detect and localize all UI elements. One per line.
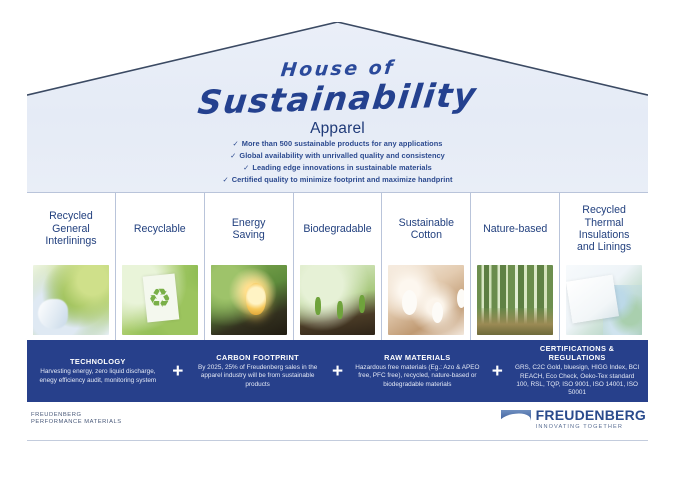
- product-column-list: RecycledGeneralInterlinings Recyclable E…: [27, 193, 648, 341]
- product-column-biodegradable[interactable]: Biodegradable: [294, 193, 383, 341]
- footer-company-line-2: PERFORMANCE MATERIALS: [31, 419, 122, 426]
- plus-icon: +: [169, 362, 187, 381]
- product-column-sustainable-cotton[interactable]: SustainableCotton: [382, 193, 471, 341]
- pillar-technology[interactable]: TECHNOLOGY Harvesting energy, zero liqui…: [27, 357, 169, 385]
- column-title: Nature-based: [471, 193, 559, 265]
- logo-tagline: INNOVATING TOGETHER: [536, 424, 646, 430]
- footer: FREUDENBERG PERFORMANCE MATERIALS FREUDE…: [27, 406, 648, 446]
- pillar-title: CARBON FOOTPRINT: [195, 353, 321, 362]
- foundation-band: TECHNOLOGY Harvesting energy, zero liqui…: [27, 340, 648, 402]
- footer-company-line-1: FREUDENBERG: [31, 412, 122, 419]
- pillar-certifications-and-regulations[interactable]: CERTIFICATIONS & REGULATIONS GRS, C2C Go…: [506, 344, 648, 398]
- column-title: RecycledGeneralInterlinings: [27, 193, 115, 265]
- plus-icon: +: [329, 362, 347, 381]
- column-title: Biodegradable: [294, 193, 382, 265]
- house-title: House of Sustainability Apparel: [27, 58, 648, 138]
- column-photo-light-bulb: [211, 265, 287, 335]
- pillar-raw-materials[interactable]: RAW MATERIALS Hazardous free materials (…: [347, 353, 489, 389]
- pillar-text: Harvesting energy, zero liquid discharge…: [35, 368, 161, 385]
- product-column-recycled-general-interlinings[interactable]: RecycledGeneralInterlinings: [27, 193, 116, 341]
- column-photo-plastic-bottle-and-leaves: [33, 265, 109, 335]
- freudenberg-logo: FREUDENBERG INNOVATING TOGETHER: [501, 408, 646, 430]
- column-title: SustainableCotton: [382, 193, 470, 265]
- footer-company: FREUDENBERG PERFORMANCE MATERIALS: [31, 412, 122, 427]
- product-column-recycled-thermal-insulations-and-linings[interactable]: RecycledThermalInsulationsand Linings: [560, 193, 648, 341]
- pillar-title: RAW MATERIALS: [355, 353, 481, 362]
- check-icon: ✓: [233, 139, 239, 148]
- bullet-item: ✓Leading edge innovations in sustainable…: [27, 162, 648, 174]
- roof-bullet-list: ✓More than 500 sustainable products for …: [27, 138, 648, 186]
- logo-name: FREUDENBERG: [536, 408, 646, 423]
- product-column-nature-based[interactable]: Nature-based: [471, 193, 560, 341]
- pillar-text: GRS, C2C Gold, bluesign, HIGG Index, BCI…: [514, 364, 640, 398]
- pillar-carbon-footprint[interactable]: CARBON FOOTPRINT By 2025, 25% of Freuden…: [187, 353, 329, 389]
- column-title: RecycledThermalInsulationsand Linings: [560, 193, 648, 265]
- column-photo-insulation-and-flakes: [566, 265, 642, 335]
- check-icon: ✓: [243, 163, 249, 172]
- house-roof: House of Sustainability Apparel ✓More th…: [27, 22, 648, 192]
- column-photo-recycling-symbol: [122, 265, 198, 335]
- bullet-label: Certified quality to minimize footprint …: [232, 175, 453, 184]
- pillar-text: Hazardous free materials (Eg.: Azo & APE…: [355, 364, 481, 389]
- bullet-label: More than 500 sustainable products for a…: [242, 139, 443, 148]
- bullet-item: ✓Certified quality to minimize footprint…: [27, 174, 648, 186]
- pillar-text: By 2025, 25% of Freudenberg sales in the…: [195, 364, 321, 389]
- bullet-item: ✓Global availability with unrivalled qua…: [27, 150, 648, 162]
- bullet-label: Global availability with unrivalled qual…: [239, 151, 444, 160]
- bullet-item: ✓More than 500 sustainable products for …: [27, 138, 648, 150]
- bullet-label: Leading edge innovations in sustainable …: [252, 163, 431, 172]
- check-icon: ✓: [223, 175, 229, 184]
- freudenberg-mark-icon: [501, 410, 531, 425]
- footer-divider: [27, 440, 648, 441]
- column-photo-cotton-bolls: [388, 265, 464, 335]
- column-photo-seedlings: [300, 265, 376, 335]
- product-column-recyclable[interactable]: Recyclable: [116, 193, 205, 341]
- check-icon: ✓: [230, 151, 236, 160]
- column-photo-forest-path: [477, 265, 553, 335]
- house-body: RecycledGeneralInterlinings Recyclable E…: [27, 192, 648, 341]
- pillar-title: CERTIFICATIONS & REGULATIONS: [514, 344, 640, 362]
- infographic-page: House of Sustainability Apparel ✓More th…: [0, 0, 675, 477]
- title-line-2: Sustainability: [24, 70, 652, 126]
- plus-icon: +: [488, 362, 506, 381]
- column-title: EnergySaving: [205, 193, 293, 265]
- pillar-title: TECHNOLOGY: [35, 357, 161, 366]
- column-title: Recyclable: [116, 193, 204, 265]
- product-column-energy-saving[interactable]: EnergySaving: [205, 193, 294, 341]
